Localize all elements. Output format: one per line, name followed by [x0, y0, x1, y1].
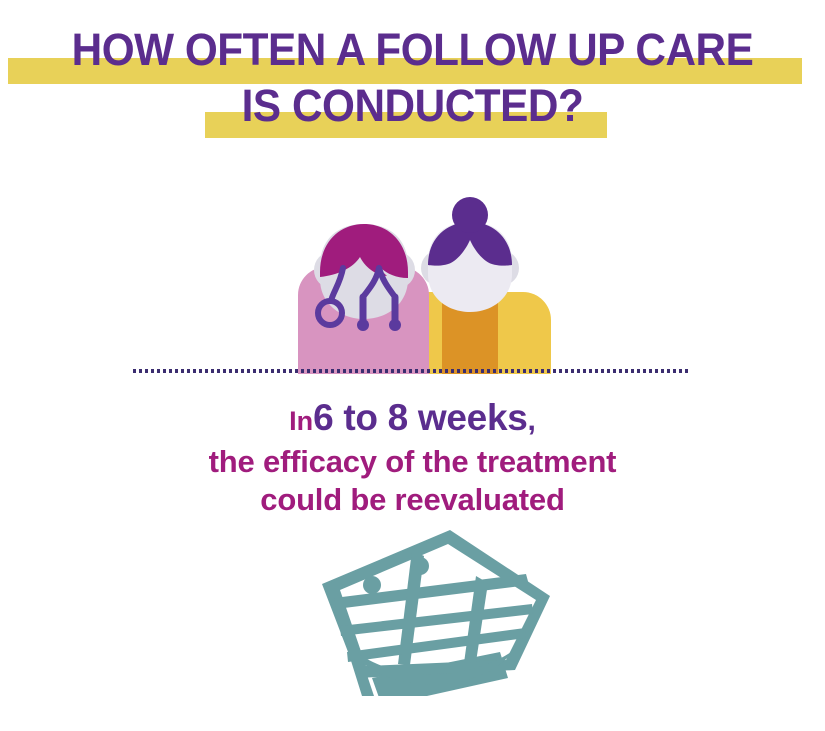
calendar-icon — [300, 528, 550, 696]
message-comma: , — [528, 404, 536, 437]
doctor-figure — [298, 224, 429, 374]
message-prefix: In — [289, 406, 313, 436]
message-line-3: could be reevaluated — [0, 481, 825, 519]
title-line-2: IS CONDUCTED? — [25, 83, 801, 128]
doctor-and-patient-illustration — [255, 192, 555, 374]
message-emphasis: 6 to 8 weeks — [313, 397, 527, 438]
dotted-divider — [133, 369, 690, 373]
message-block: In6 to 8 weeks, the efficacy of the trea… — [0, 398, 825, 519]
title-block: HOW OFTEN A FOLLOW UP CARE IS CONDUCTED? — [0, 0, 825, 150]
message-line-1: In6 to 8 weeks, — [0, 398, 825, 437]
message-line-2: the efficacy of the treatment — [0, 443, 825, 481]
title-line-1: HOW OFTEN A FOLLOW UP CARE — [25, 27, 801, 72]
